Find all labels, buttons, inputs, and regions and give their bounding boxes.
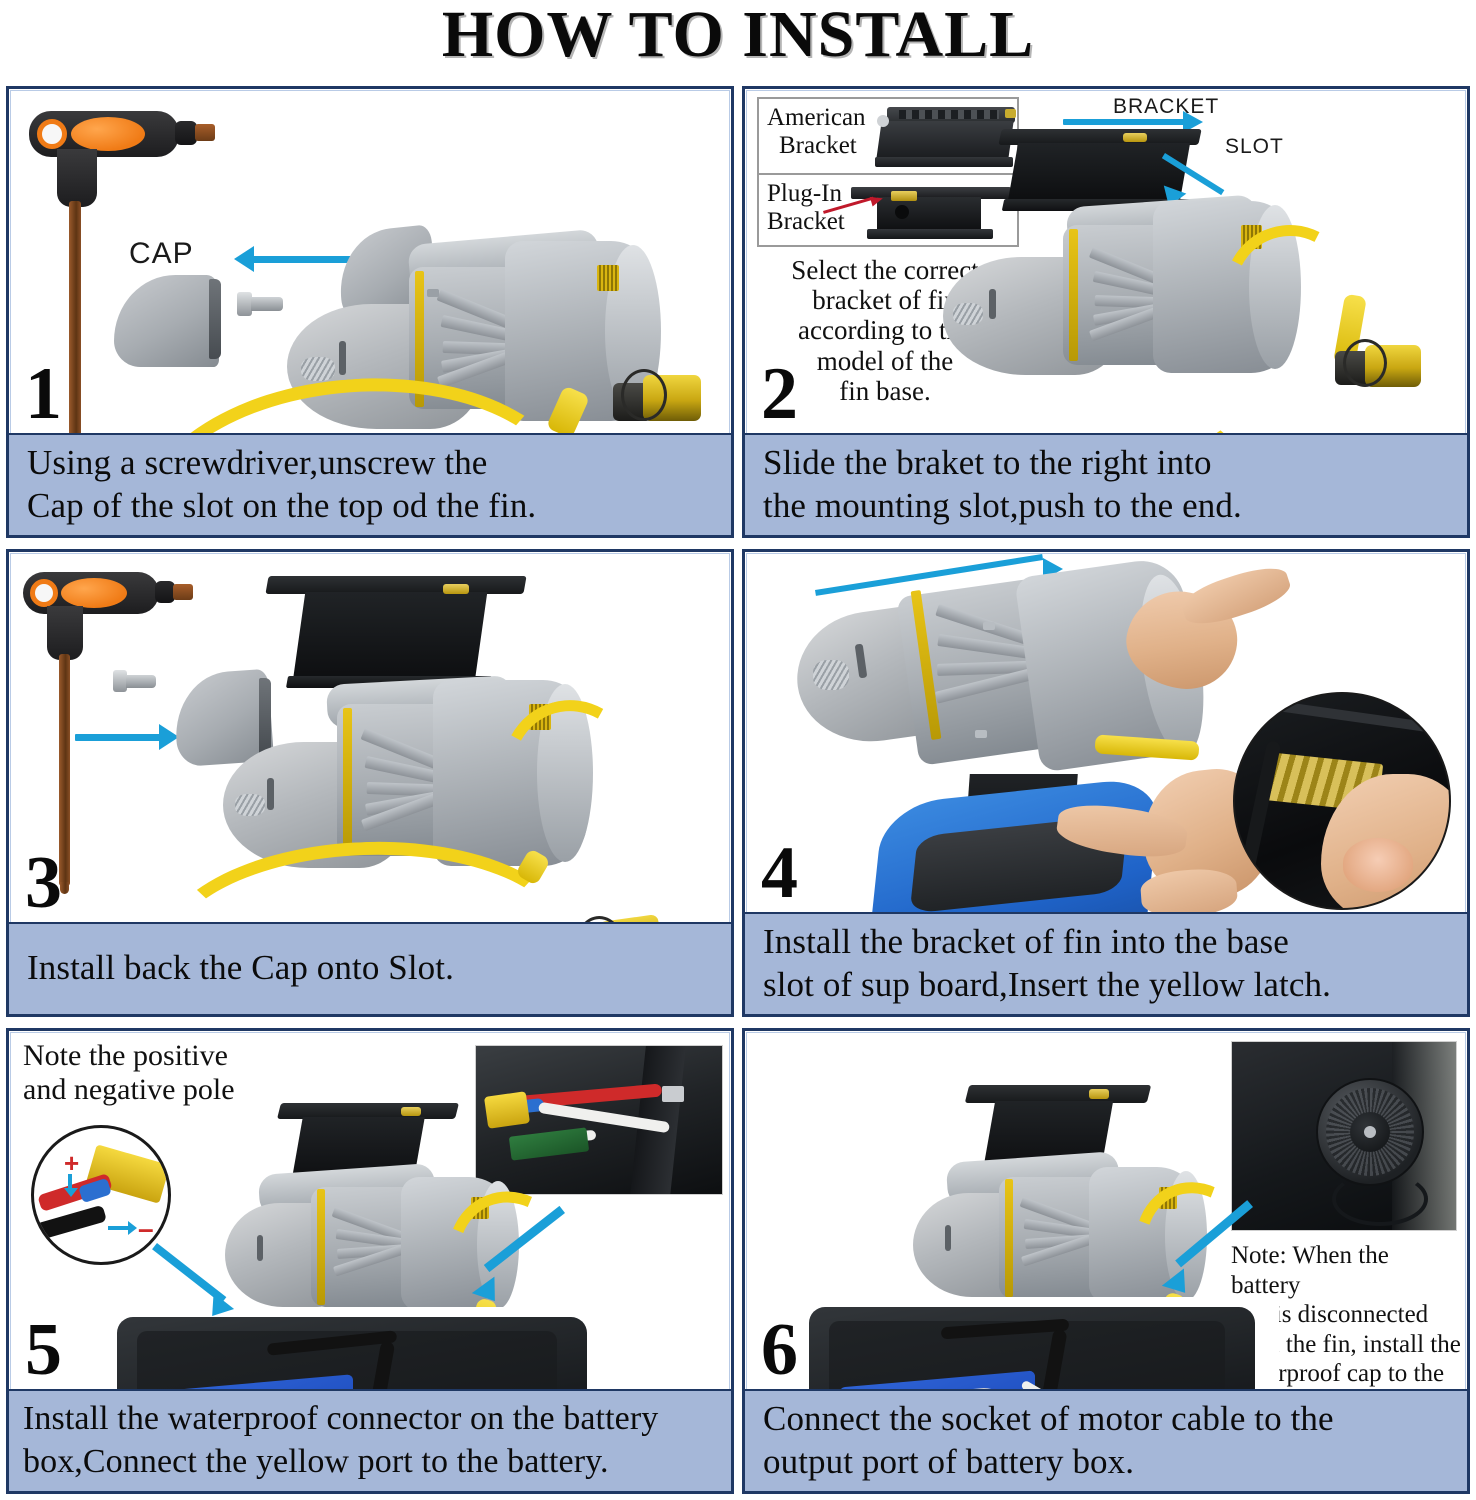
slot-label: SLOT: [1225, 135, 1284, 159]
step-1-caption: Using a screwdriver,unscrew the Cap of t…: [9, 433, 731, 535]
step-2-caption: Slide the braket to the right into the m…: [745, 433, 1467, 535]
step-number-5: 5: [25, 1313, 62, 1387]
waterproof-cap-inset: [1231, 1041, 1457, 1231]
step-number-4: 4: [761, 836, 798, 910]
step-6-caption: Connect the socket of motor cable to the…: [745, 1389, 1467, 1491]
step-2-illustration: American Bracket Plug-In Bracket: [745, 89, 1467, 433]
step-number-1: 1: [25, 357, 62, 431]
step-6-caption-line-1: Connect the socket of motor cable to the: [763, 1397, 1467, 1440]
step-4-caption: Install the bracket of fin into the base…: [745, 912, 1467, 1014]
step-panel-4: 4 Install the bracket of fin into the ba…: [742, 549, 1470, 1017]
step-3-caption-line-1: Install back the Cap onto Slot.: [27, 946, 731, 989]
step-1-caption-line-2: Cap of the slot on the top od the fin.: [27, 484, 731, 527]
battery-box-photo: [809, 1297, 1279, 1389]
step-6-illustration: Note: When the battery box is disconnect…: [745, 1031, 1467, 1389]
step-3-illustration: 3: [9, 552, 731, 922]
step-1-illustration: CAP: [9, 89, 731, 433]
polarity-note-line-1: Note the positive: [23, 1039, 323, 1073]
wiring-closeup-inset: [475, 1045, 723, 1195]
step-4-caption-line-1: Install the bracket of fin into the base: [763, 920, 1467, 963]
step-6-caption-line-2: output port of battery box.: [763, 1440, 1467, 1483]
bracket-label: BRACKET: [1113, 95, 1219, 119]
american-bracket-label-line-2: Bracket: [779, 133, 857, 159]
step-5-caption-line-1: Install the waterproof connector on the …: [23, 1397, 731, 1440]
cap-label: CAP: [129, 237, 194, 271]
step-panel-1: CAP: [6, 86, 734, 538]
step-number-2: 2: [761, 357, 798, 431]
battery-box-photo: [117, 1307, 617, 1389]
step-1-caption-line-1: Using a screwdriver,unscrew the: [27, 441, 731, 484]
step-6-note-line-1: Note: When the battery: [1231, 1241, 1463, 1300]
step-panel-3: 3 Install back the Cap onto Slot.: [6, 549, 734, 1017]
polarity-note-line-2: and negative pole: [23, 1073, 323, 1107]
step-5-caption-line-2: box,Connect the yellow port to the batte…: [23, 1440, 731, 1483]
polarity-closeup-inset: + –: [31, 1125, 171, 1265]
latch-closeup-inset: [1233, 692, 1451, 910]
step-3-caption: Install back the Cap onto Slot.: [9, 922, 731, 1014]
step-2-caption-line-2: the mounting slot,push to the end.: [763, 484, 1467, 527]
polarity-minus-symbol: –: [138, 1220, 164, 1240]
red-pointer-arrow-icon: [823, 195, 881, 217]
step-number-3: 3: [25, 846, 62, 920]
step-panel-6: Note: When the battery box is disconnect…: [742, 1028, 1470, 1494]
how-to-install-page: HOW TO INSTALL CAP: [0, 0, 1476, 1500]
step-4-illustration: 4: [745, 552, 1467, 912]
steps-grid: CAP: [6, 86, 1470, 1496]
step-2-caption-line-1: Slide the braket to the right into: [763, 441, 1467, 484]
step-4-caption-line-2: slot of sup board,Insert the yellow latc…: [763, 963, 1467, 1006]
polarity-plus-symbol: +: [64, 1152, 82, 1174]
page-title: HOW TO INSTALL: [0, 0, 1476, 74]
step-5-illustration: Note the positive and negative pole + –: [9, 1031, 731, 1389]
polarity-note: Note the positive and negative pole: [23, 1039, 323, 1106]
step-panel-5: Note the positive and negative pole + –: [6, 1028, 734, 1494]
step-panel-2: American Bracket Plug-In Bracket: [742, 86, 1470, 538]
american-bracket-label-line-1: American: [767, 105, 866, 131]
step-number-6: 6: [761, 1313, 798, 1387]
bracket-types-inset: American Bracket Plug-In Bracket: [757, 97, 1019, 247]
step-5-caption: Install the waterproof connector on the …: [9, 1389, 731, 1491]
